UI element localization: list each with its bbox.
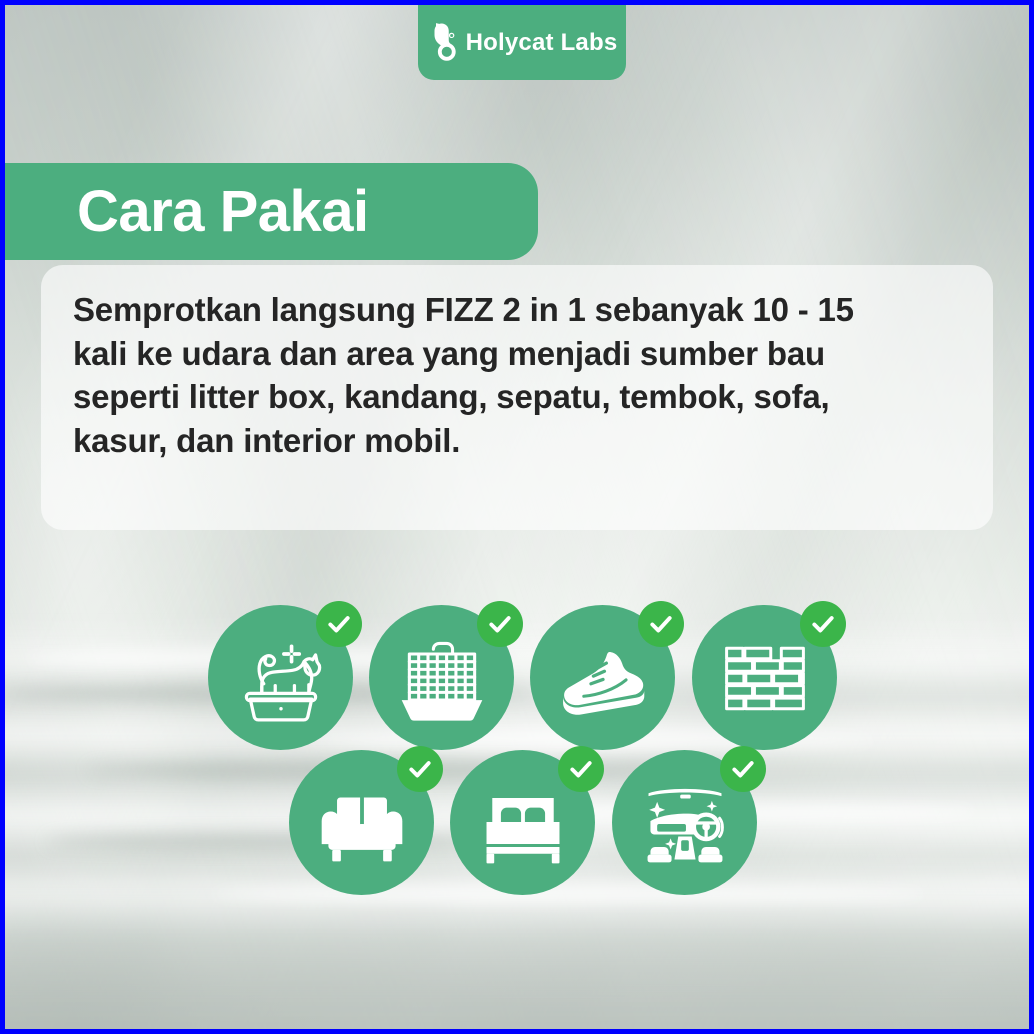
checkmark-badge (720, 746, 766, 792)
poster-canvas: Holycat Labs Cara Pakai Semprotkan langs… (0, 0, 1034, 1034)
icon-item-litter-box (208, 605, 353, 750)
checkmark-icon (810, 611, 836, 637)
checkmark-badge (397, 746, 443, 792)
sofa-icon (314, 775, 410, 871)
usage-surfaces-icon-grid (5, 5, 1029, 1029)
icon-item-pet-carrier (369, 605, 514, 750)
car-interior-icon (637, 775, 733, 871)
checkmark-badge (477, 601, 523, 647)
checkmark-icon (648, 611, 674, 637)
checkmark-badge (638, 601, 684, 647)
checkmark-badge (800, 601, 846, 647)
brick-wall-icon (717, 630, 813, 726)
brand-name: Holycat Labs (466, 29, 618, 57)
icon-item-car-interior (612, 750, 757, 895)
bed-icon (475, 775, 571, 871)
brand-logo-badge: Holycat Labs (418, 5, 626, 80)
checkmark-icon (730, 756, 756, 782)
icon-item-brick-wall (692, 605, 837, 750)
cat-icon (427, 22, 457, 64)
pet-carrier-icon (394, 630, 490, 726)
icon-item-bed (450, 750, 595, 895)
checkmark-badge (316, 601, 362, 647)
checkmark-icon (326, 611, 352, 637)
icon-item-shoe (530, 605, 675, 750)
checkmark-icon (407, 756, 433, 782)
checkmark-icon (568, 756, 594, 782)
icon-item-sofa (289, 750, 434, 895)
checkmark-badge (558, 746, 604, 792)
shoe-icon (555, 630, 651, 726)
checkmark-icon (487, 611, 513, 637)
litter-box-icon (233, 630, 329, 726)
